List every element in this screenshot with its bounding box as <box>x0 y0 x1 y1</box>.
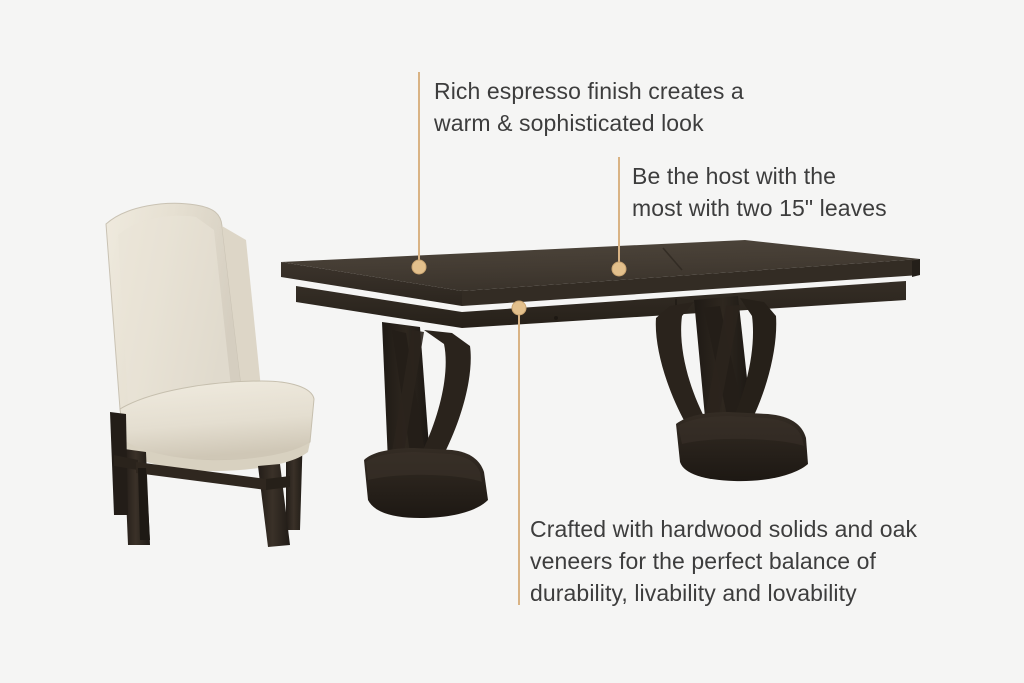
table-left-trestle-leg <box>364 322 488 518</box>
callout-two-15-inch-leaves: Be the host with the most with two 15" l… <box>632 160 972 224</box>
callout-rich-espresso-finish: Rich espresso finish creates a warm & so… <box>434 75 814 139</box>
callout-hardwood-solids-oak-veneers: Crafted with hardwood solids and oak ven… <box>530 513 950 609</box>
leader-dot-material <box>512 301 526 315</box>
dining-chair-illustration <box>106 203 314 547</box>
dining-table-illustration <box>281 240 920 518</box>
table-right-trestle-leg <box>656 296 808 481</box>
leader-dot-leaves <box>612 262 626 276</box>
leader-dot-finish <box>412 260 426 274</box>
infographic-canvas: Rich espresso finish creates a warm & so… <box>0 0 1024 683</box>
